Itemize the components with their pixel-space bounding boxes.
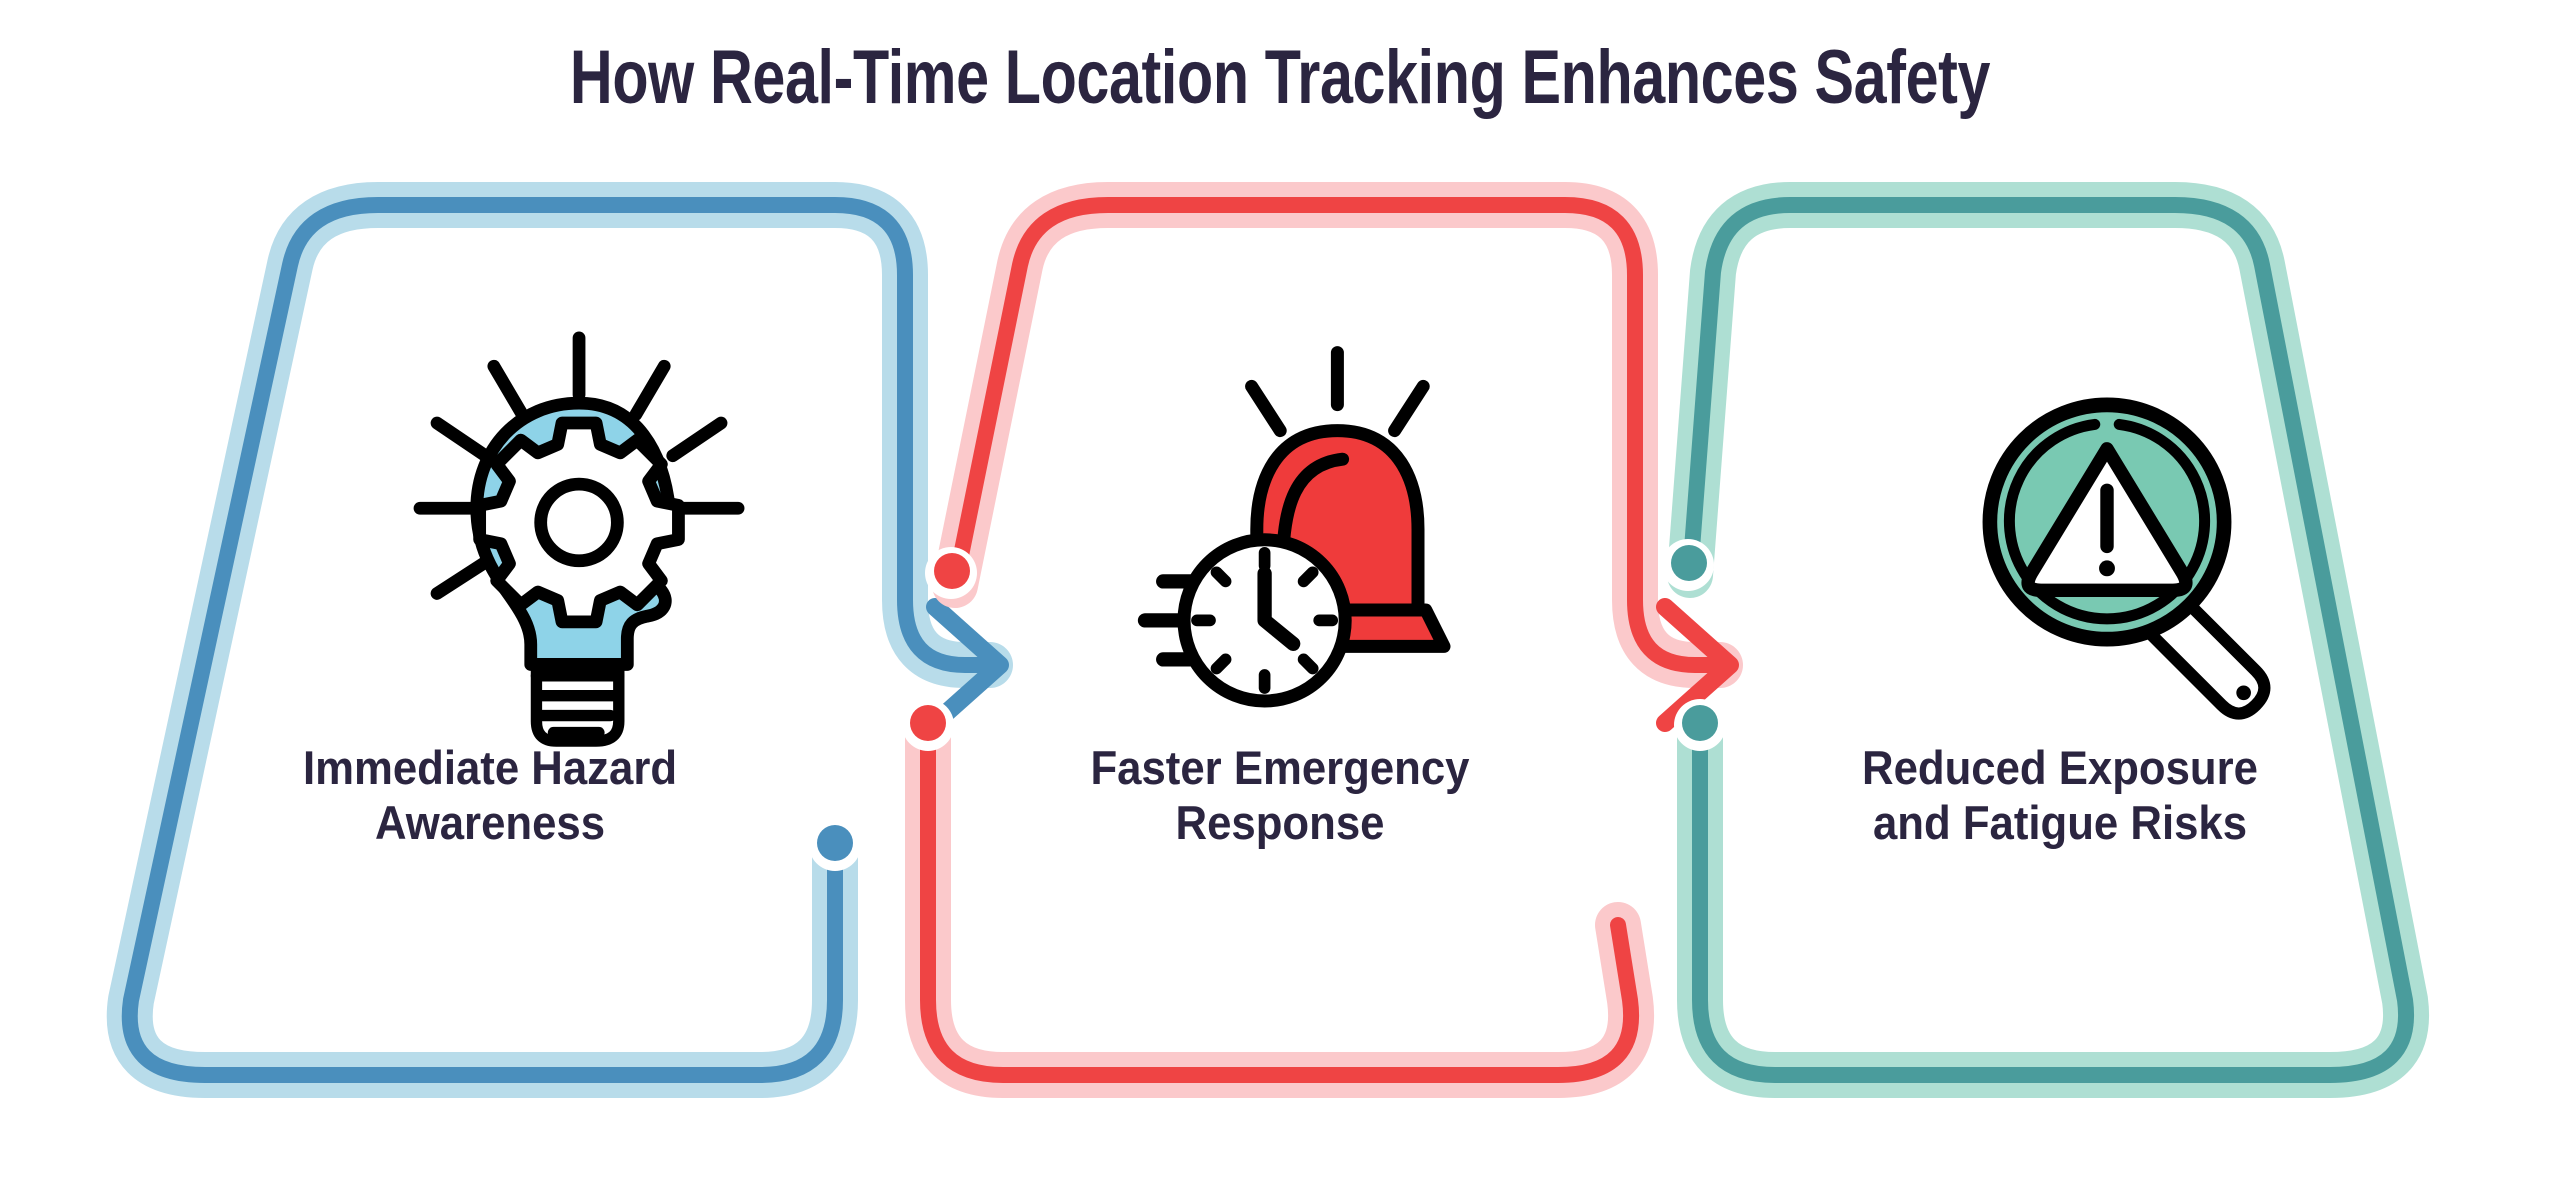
- gear-icon: [480, 423, 679, 622]
- step-3-path-group: [1662, 205, 2406, 1075]
- step-2-label-line2: Response: [1020, 795, 1541, 850]
- step-3-path-outer: [1690, 205, 2406, 1075]
- magnifier-warning-icon: [1990, 405, 2265, 714]
- clock-icon: [1184, 540, 1345, 701]
- step-3-label-line2: and Fatigue Risks: [1790, 795, 2329, 850]
- step-3-end-dot-core: [1671, 545, 1707, 581]
- step-3-label-line1: Reduced Exposure: [1790, 740, 2329, 795]
- handle-dot: [2236, 685, 2251, 700]
- infographic-canvas: How Real-Time Location Tracking Enhances…: [0, 0, 2560, 1200]
- step-2-label-line1: Faster Emergency: [1020, 740, 1541, 795]
- step-2-start-dot-core: [910, 705, 946, 741]
- siren-rays-icon: [1252, 353, 1424, 431]
- step-1-label-line2: Awareness: [202, 795, 779, 850]
- bulb-base-icon: [536, 664, 618, 741]
- siren-clock-icon: [1145, 353, 1444, 701]
- step-3-start-dot-core: [1682, 705, 1718, 741]
- step-1-start-dot-core: [817, 825, 853, 861]
- step-1-label: Immediate Hazard Awareness: [202, 740, 779, 851]
- exclamation-dot: [2099, 560, 2115, 576]
- process-flow-diagram: [0, 0, 2560, 1200]
- step-1-label-line1: Immediate Hazard: [202, 740, 779, 795]
- lightbulb-head-gear-icon: [420, 338, 738, 741]
- step-2-label: Faster Emergency Response: [1020, 740, 1541, 851]
- step-3-label: Reduced Exposure and Fatigue Risks: [1790, 740, 2329, 851]
- step-2-top-dot-core: [934, 553, 970, 589]
